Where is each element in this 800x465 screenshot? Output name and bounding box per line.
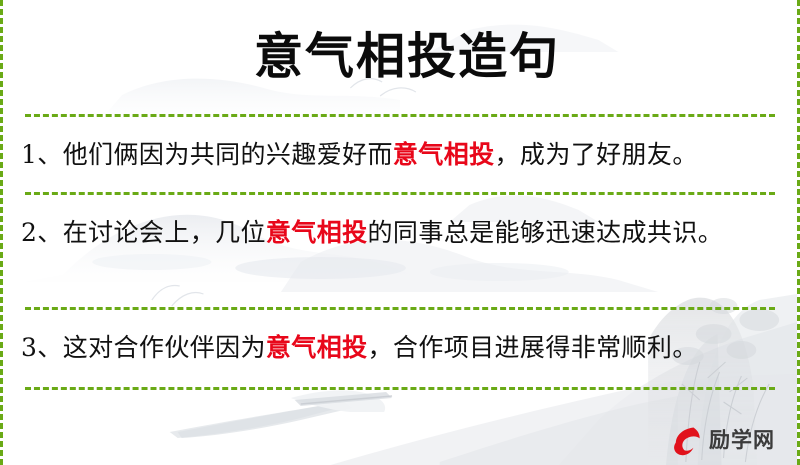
sentence-text-before-2: 在讨论会上，几位 [63,218,266,247]
sentence-text-after-2: 的同事总是能够迅速达成共识。 [368,218,724,247]
sentence-item-3: 3、这对合作伙伴因为意气相投，合作项目进展得非常顺利。 [21,327,779,368]
title-band: 意气相投造句 [3,0,797,113]
sentence-item-1: 1、他们俩因为共同的兴趣爱好而意气相投，成为了好朋友。 [21,134,779,175]
sentence-text-after-3: ，合作项目进展得非常顺利。 [368,333,698,362]
keyword-highlight-2: 意气相投 [266,218,368,247]
sentence-number-1: 1、 [21,140,63,169]
sentence-text-before-3: 这对合作伙伴因为 [63,333,266,362]
sentence-number-3: 3、 [21,333,63,362]
flame-swirl-icon [669,423,703,457]
flame-swirl-glyph [669,423,703,457]
watermark-logo: 励学网 [669,423,775,457]
sentence-text-before-1: 他们俩因为共同的兴趣爱好而 [63,140,393,169]
sentence-number-2: 2、 [21,218,63,247]
divider-line-1 [25,114,775,117]
watermark-brand-text: 励学网 [709,430,775,451]
divider-line-3 [25,307,775,310]
divider-line-4 [25,387,775,390]
keyword-highlight-3: 意气相投 [266,333,368,362]
page-title: 意气相投造句 [240,32,560,81]
keyword-highlight-1: 意气相投 [393,140,495,169]
page-root: 意气相投造句 1、他们俩因为共同的兴趣爱好而意气相投，成为了好朋友。 2、在讨论… [0,0,800,465]
sentence-text-after-1: ，成为了好朋友。 [495,140,698,169]
divider-line-2 [25,192,775,195]
sentence-item-2: 2、在讨论会上，几位意气相投的同事总是能够迅速达成共识。 [21,212,779,253]
